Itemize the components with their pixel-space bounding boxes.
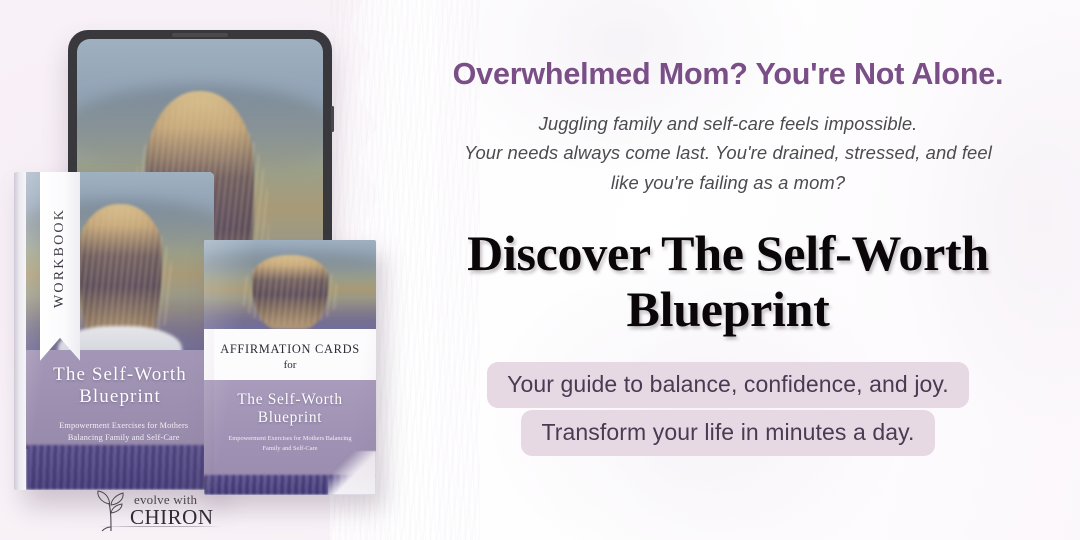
cardbox-cover-photo <box>204 240 376 334</box>
pain-point-subcopy: Juggling family and self-care feels impo… <box>396 109 1060 198</box>
workbook-title: The Self-Worth Blueprint <box>26 364 214 407</box>
workbook-mockup: WORKBOOK The Self-Worth Blueprint Empowe… <box>14 172 214 490</box>
subcopy-line-3: like you're failing as a mom? <box>396 168 1060 198</box>
logo-underline <box>96 526 220 527</box>
promise-line-1: Your guide to balance, confidence, and j… <box>487 362 969 408</box>
workbook-ribbon: WORKBOOK <box>40 172 80 361</box>
offer-title-line-2: Blueprint <box>396 281 1060 338</box>
cardbox-for-word: for <box>284 359 297 371</box>
pain-point-headline: Overwhelmed Mom? You're Not Alone. <box>396 58 1060 92</box>
product-mockup-stack: WORKBOOK The Self-Worth Blueprint Empowe… <box>0 0 400 540</box>
workbook-subtitle: Empowerment Exercises for Mothers Balanc… <box>49 420 199 445</box>
cardbox-subtitle-line-1: Empowerment Exercises for Mothers Balanc… <box>213 434 367 444</box>
workbook-lavender-band <box>26 445 214 490</box>
tablet-speaker-icon <box>172 33 228 37</box>
cardbox-title-line-2: Blueprint <box>204 409 376 427</box>
cardbox-corner-highlight <box>328 451 376 495</box>
copy-column: Overwhelmed Mom? You're Not Alone. Juggl… <box>396 0 1060 540</box>
logo-tagline: evolve with <box>134 493 214 506</box>
value-promise: Your guide to balance, confidence, and j… <box>396 362 1060 456</box>
workbook-subtitle-line-2: Balancing Family and Self-Care <box>49 432 199 444</box>
promo-banner: WORKBOOK The Self-Worth Blueprint Empowe… <box>0 0 1080 540</box>
cardbox-heading-panel: AFFIRMATION CARDS for <box>204 329 376 383</box>
workbook-subtitle-line-1: Empowerment Exercises for Mothers <box>49 420 199 432</box>
logo-wordmark: evolve with CHIRON <box>130 493 214 528</box>
brand-logo: evolve with CHIRON <box>92 485 222 535</box>
workbook-ribbon-label: WORKBOOK <box>52 208 68 308</box>
promise-line-2: Transform your life in minutes a day. <box>521 410 934 456</box>
workbook-cover: WORKBOOK The Self-Worth Blueprint Empowe… <box>26 172 214 490</box>
offer-title: Discover The Self-Worth Blueprint <box>396 225 1060 338</box>
offer-title-line-1: Discover The Self-Worth <box>396 225 1060 282</box>
affirmation-cards-mockup: AFFIRMATION CARDS for The Self-Worth Blu… <box>204 240 376 495</box>
logo-brand-name: CHIRON <box>130 507 214 528</box>
subcopy-line-1: Juggling family and self-care feels impo… <box>396 109 1060 139</box>
cardbox-title-line-1: The Self-Worth <box>204 391 376 409</box>
subcopy-line-2: Your needs always come last. You're drai… <box>396 138 1060 168</box>
workbook-spine <box>14 172 26 490</box>
workbook-title-line-2: Blueprint <box>26 386 214 408</box>
cardbox-heading: AFFIRMATION CARDS <box>220 342 360 357</box>
cardbox-title: The Self-Worth Blueprint <box>204 391 376 426</box>
photo-hair-strands <box>242 257 338 325</box>
workbook-title-line-1: The Self-Worth <box>26 364 214 386</box>
